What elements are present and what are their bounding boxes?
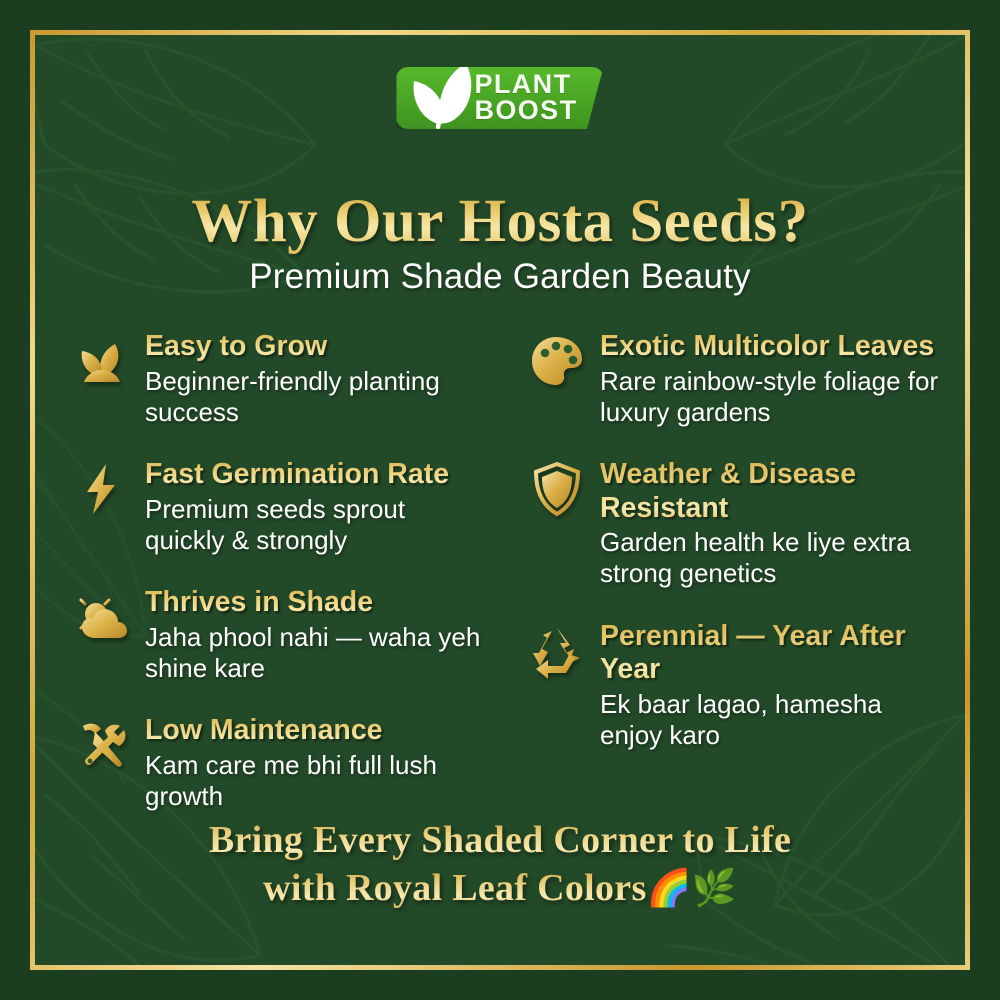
shield-icon [528, 460, 586, 518]
feature-item: Thrives in Shade Jaha phool nahi — waha … [73, 586, 488, 684]
footer-line-2: with Royal Leaf Colors [263, 867, 646, 909]
feature-desc: Rare rainbow-style foliage for luxury ga… [600, 366, 947, 428]
feature-item: Low Maintenance Kam care me bhi full lus… [73, 714, 488, 812]
features-grid: Easy to Grow Beginner-friendly planting … [47, 330, 953, 842]
hammer-and-wrench-icon [73, 716, 131, 774]
recycle-icon [528, 622, 586, 680]
logo-line-2: BOOST [474, 98, 577, 124]
feature-text: Easy to Grow Beginner-friendly planting … [145, 330, 488, 428]
feature-item: Easy to Grow Beginner-friendly planting … [73, 330, 488, 428]
feature-desc: Ek baar lagao, hamesha enjoy karo [600, 689, 947, 751]
feature-title: Easy to Grow [145, 330, 488, 364]
features-column-left: Easy to Grow Beginner-friendly planting … [47, 330, 500, 842]
artist-palette-icon [528, 332, 586, 390]
feature-item: Weather & Disease Resistant Garden healt… [528, 458, 947, 590]
feature-text: Fast Germination Rate Premium seeds spro… [145, 458, 488, 556]
poster-inner: PLANT BOOST Why Our Hosta Seeds? Premium… [35, 35, 965, 965]
feature-desc: Jaha phool nahi — waha yeh shine kare [145, 622, 488, 684]
feature-item: Perennial — Year After Year Ek baar laga… [528, 620, 947, 752]
brand-logo[interactable]: PLANT BOOST [35, 67, 965, 129]
page-subtitle: Premium Shade Garden Beauty [35, 257, 965, 297]
feature-title: Low Maintenance [145, 714, 488, 748]
sun-behind-cloud-icon [73, 588, 131, 646]
logo-badge[interactable]: PLANT BOOST [396, 67, 603, 129]
feature-text: Thrives in Shade Jaha phool nahi — waha … [145, 586, 488, 684]
feature-title: Perennial — Year After Year [600, 620, 947, 687]
footer-tagline: Bring Every Shaded Corner to Life with R… [35, 816, 965, 913]
feature-title: Fast Germination Rate [145, 458, 488, 492]
feature-item: Fast Germination Rate Premium seeds spro… [73, 458, 488, 556]
rainbow-herb-emoji: 🌈🌿 [647, 868, 737, 908]
promo-poster: PLANT BOOST Why Our Hosta Seeds? Premium… [0, 0, 1000, 1000]
page-title: Why Our Hosta Seeds? [35, 187, 965, 257]
feature-text: Low Maintenance Kam care me bhi full lus… [145, 714, 488, 812]
two-leaves-icon [400, 53, 484, 131]
feature-text: Exotic Multicolor Leaves Rare rainbow-st… [600, 330, 947, 428]
lightning-bolt-icon [73, 460, 131, 518]
feature-text: Weather & Disease Resistant Garden healt… [600, 458, 947, 590]
feature-title: Thrives in Shade [145, 586, 488, 620]
feature-title: Weather & Disease Resistant [600, 458, 947, 525]
footer-line-2-row: with Royal Leaf Colors🌈🌿 [35, 864, 965, 913]
feature-title: Exotic Multicolor Leaves [600, 330, 947, 364]
feature-item: Exotic Multicolor Leaves Rare rainbow-st… [528, 330, 947, 428]
feature-desc: Premium seeds sprout quickly & strongly [145, 494, 488, 556]
feature-text: Perennial — Year After Year Ek baar laga… [600, 620, 947, 752]
logo-text: PLANT BOOST [474, 72, 577, 124]
feature-desc: Garden health ke liye extra strong genet… [600, 527, 947, 589]
seedling-icon [73, 332, 131, 390]
feature-desc: Beginner-friendly planting success [145, 366, 488, 428]
features-column-right: Exotic Multicolor Leaves Rare rainbow-st… [500, 330, 953, 842]
footer-line-1: Bring Every Shaded Corner to Life [35, 816, 965, 865]
feature-desc: Kam care me bhi full lush growth [145, 750, 488, 812]
